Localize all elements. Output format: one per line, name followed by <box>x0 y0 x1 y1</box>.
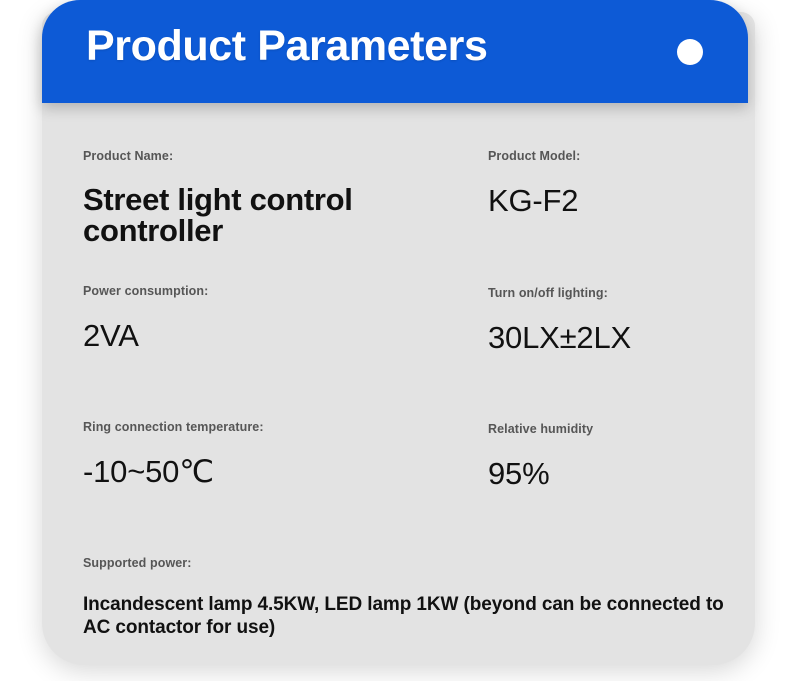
parameter-supported-power: Supported power: Incandescent lamp 4.5KW… <box>83 555 743 639</box>
parameter-label: Product Name: <box>83 148 483 164</box>
page-title: Product Parameters <box>86 22 487 71</box>
parameter-label: Product Model: <box>488 148 750 164</box>
parameter-label: Supported power: <box>83 555 743 571</box>
parameter-product-name: Product Name: Street light control contr… <box>83 148 483 246</box>
parameter-value: 95% <box>488 457 750 491</box>
parameter-value: KG-F2 <box>488 184 750 218</box>
parameter-power-consumption: Power consumption: 2VA <box>83 283 483 353</box>
parameter-relative-humidity: Relative humidity 95% <box>488 419 750 491</box>
parameter-ring-connection-temperature: Ring connection temperature: -10~50℃ <box>83 419 483 489</box>
parameter-value: Incandescent lamp 4.5KW, LED lamp 1KW (b… <box>83 593 743 639</box>
card-header-banner: Product Parameters <box>42 0 748 103</box>
parameter-turn-on-off-lighting: Turn on/off lighting: 30LX±2LX <box>488 283 750 355</box>
parameter-product-model: Product Model: KG-F2 <box>488 148 750 218</box>
circle-icon <box>677 39 703 65</box>
parameter-label: Relative humidity <box>488 421 750 437</box>
parameters-body: Product Name: Street light control contr… <box>42 103 755 665</box>
parameter-label: Power consumption: <box>83 283 483 299</box>
parameter-value: -10~50℃ <box>83 455 483 489</box>
parameter-value: Street light control controller <box>83 184 483 246</box>
parameter-value: 2VA <box>83 319 483 353</box>
product-parameters-page: Product Parameters Product Name: Street … <box>0 0 790 681</box>
parameter-value: 30LX±2LX <box>488 321 750 355</box>
parameter-label: Ring connection temperature: <box>83 419 483 435</box>
parameter-label: Turn on/off lighting: <box>488 285 750 301</box>
